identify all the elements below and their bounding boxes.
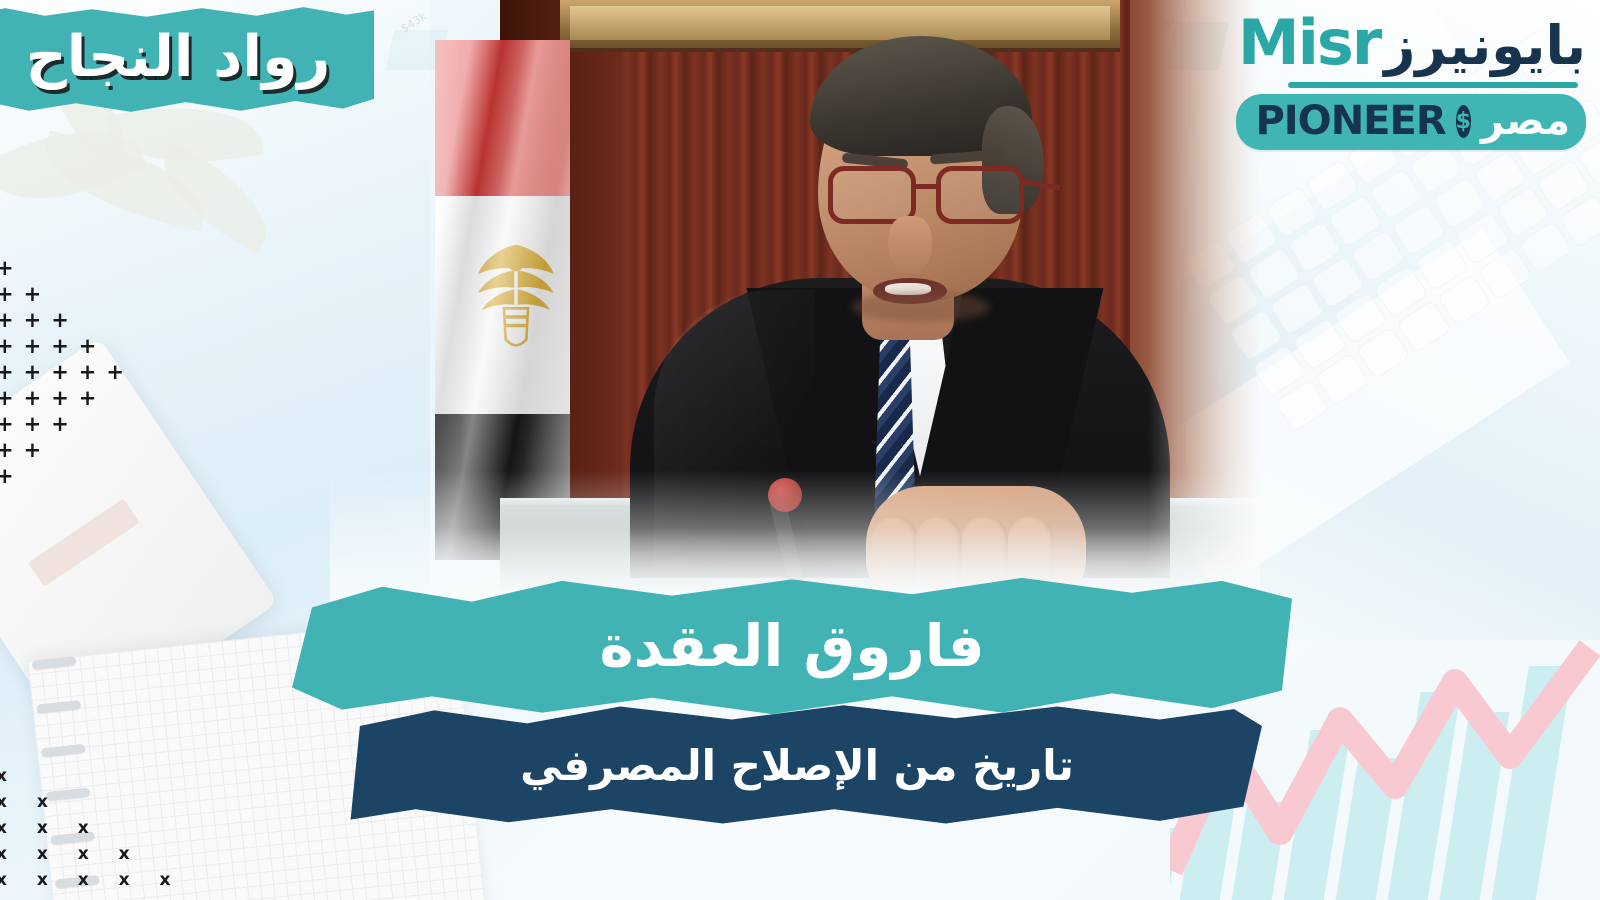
plus-dot-pattern: + ++ +++ ++++ +++++ ++++ +++ ++ + <box>0 258 134 492</box>
subtitle-banner: تاريخ من الإصلاح المصرفي <box>332 700 1262 830</box>
title-banner: فاروق العقدة <box>292 572 1292 720</box>
nose <box>888 216 932 274</box>
poster-canvas: + ++ +++ ++++ +++++ ++++ +++ ++ + x x x … <box>0 0 1600 900</box>
logo-pill-latin: PIONEER <box>1255 98 1445 144</box>
dollar-coin-icon: $ <box>1456 105 1471 138</box>
brand-logo[interactable]: Misr بايونيرز PIONEER $ مصر <box>1236 6 1586 156</box>
page-title: فاروق العقدة <box>292 572 1292 720</box>
chin-shadow <box>852 292 990 322</box>
badge-pioneers-of-success: رواد النجاح <box>0 6 374 114</box>
page-subtitle: تاريخ من الإصلاح المصرفي <box>332 700 1262 830</box>
logo-top-row: Misr بايونيرز <box>1236 6 1586 80</box>
logo-brand-latin: Misr <box>1238 6 1380 79</box>
logo-divider <box>1288 82 1578 88</box>
badge-label: رواد النجاح <box>0 6 374 114</box>
logo-brand-arabic: بايونيرز <box>1384 14 1586 77</box>
eyeglasses-icon <box>828 166 1033 228</box>
x-dot-pattern: x x x x x x x x x x x x x x x <box>0 768 183 898</box>
logo-pill: PIONEER $ مصر <box>1236 94 1586 150</box>
logo-pill-arabic: مصر <box>1481 98 1570 144</box>
